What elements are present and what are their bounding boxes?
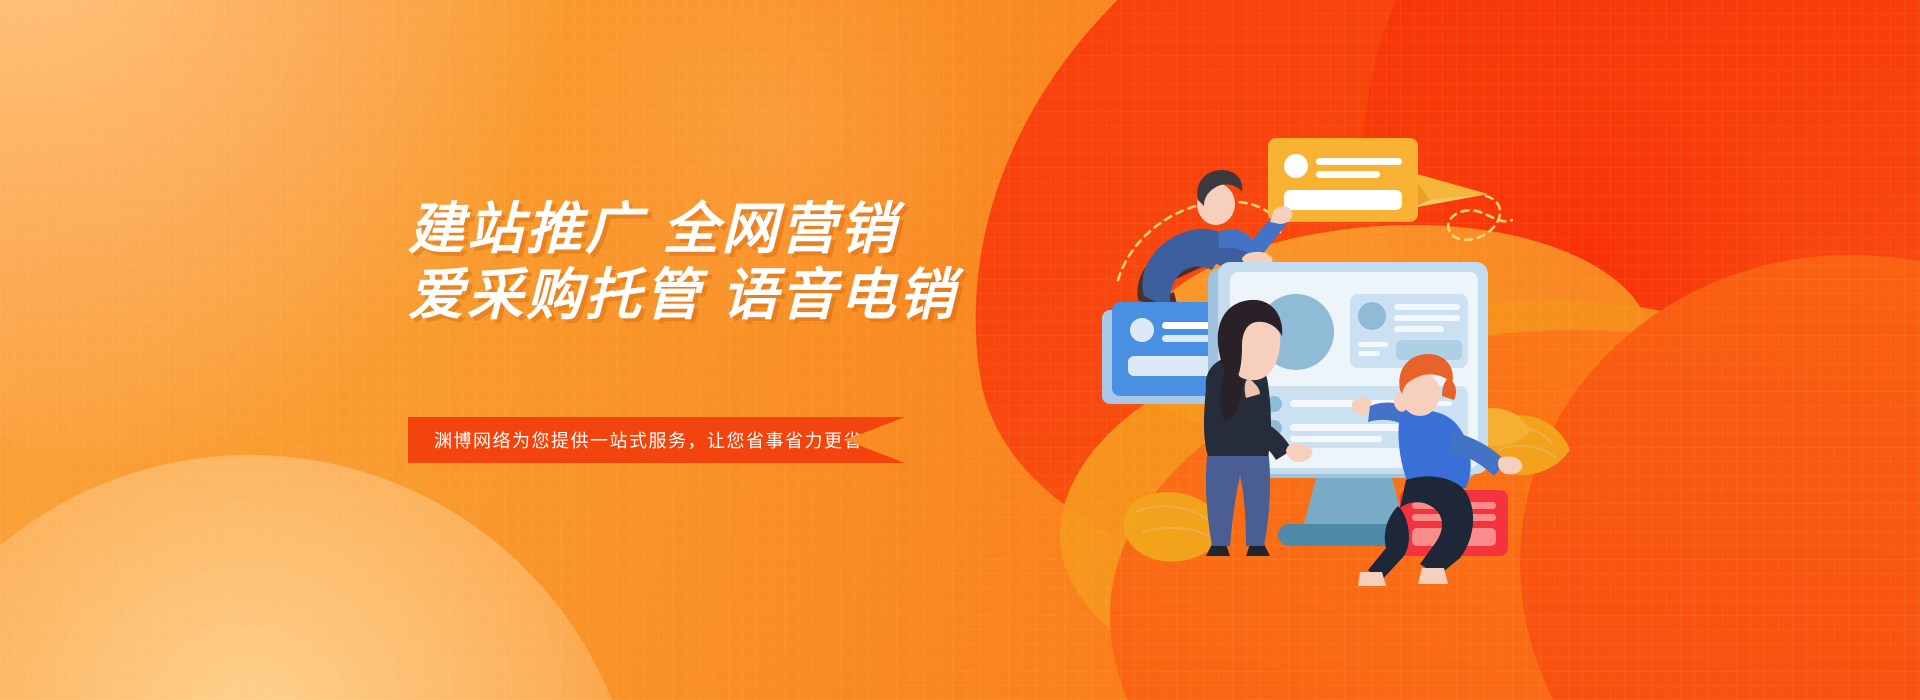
headline-block: 建站推广 全网营销 爱采购托管 语音电销	[408, 196, 1048, 328]
subtitle-ribbon: 渊博网络为您提供一站式服务，让您省事省力更省心	[408, 417, 905, 463]
team-website-dashboard-illustration	[1100, 120, 1580, 620]
light-blob-bottom-left	[0, 455, 640, 700]
headline-line-2: 爱采购托管 语音电销	[408, 262, 1048, 328]
ribbon-label: 渊博网络为您提供一站式服务，让您省事省力更省心	[408, 427, 883, 453]
paper-plane-icon	[1410, 172, 1488, 208]
screen-panel-upper	[1350, 294, 1468, 368]
background-decoration	[0, 0, 1920, 700]
dashed-trail-icon	[1448, 196, 1512, 240]
headline-line-1: 建站推广 全网营销	[408, 196, 1048, 262]
promo-banner: 建站推广 全网营销 爱采购托管 语音电销 渊博网络为您提供一站式服务，让您省事省…	[0, 0, 1920, 700]
